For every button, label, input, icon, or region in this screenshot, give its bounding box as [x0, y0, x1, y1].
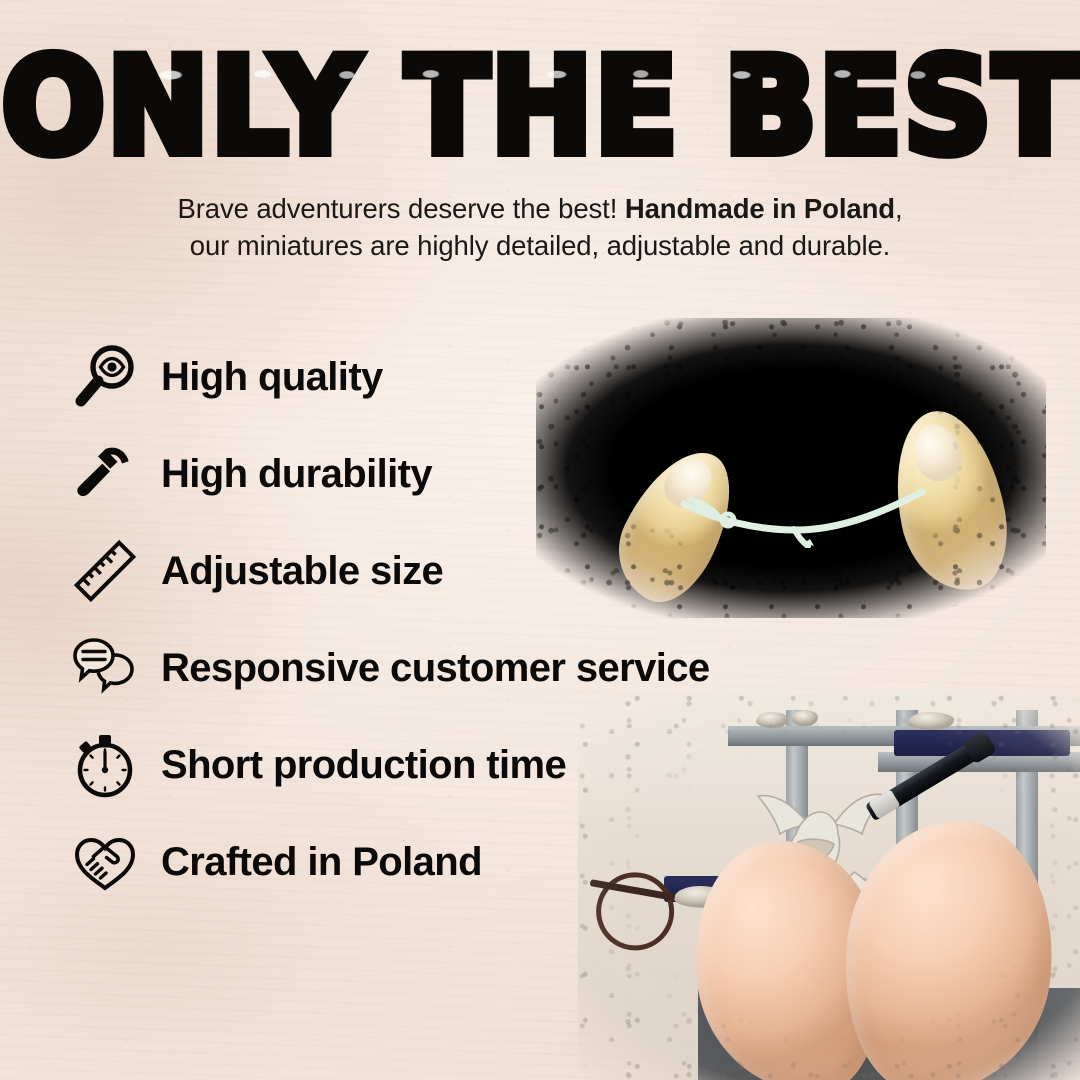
hammer-icon	[66, 435, 144, 513]
stopwatch-icon	[66, 726, 144, 804]
subtitle-emphasis: Handmade in Poland	[625, 193, 895, 224]
ruler-icon	[66, 532, 144, 610]
feature-label: Adjustable size	[161, 551, 443, 591]
subtitle-lead: Brave adventurers deserve the best!	[177, 193, 624, 224]
subtitle-comma: ,	[895, 193, 903, 224]
feature-label: Crafted in Poland	[161, 842, 482, 882]
photo-top-torn-edge	[536, 318, 1046, 618]
subtitle-line-2: our miniatures are highly detailed, adju…	[190, 230, 890, 261]
page-title: ONLY THE BEST	[0, 40, 1080, 172]
promo-poster: ONLY THE BEST Brave adventurers deserve …	[0, 0, 1080, 1080]
feature-label: High quality	[161, 357, 383, 397]
feature-label: Short production time	[161, 745, 566, 785]
subtitle: Brave adventurers deserve the best! Hand…	[90, 191, 990, 264]
handshake-heart-icon	[66, 823, 144, 901]
chat-bubbles-icon	[66, 629, 144, 707]
feature-label: High durability	[161, 454, 432, 494]
workshop-hands-photo	[578, 690, 1080, 1080]
magnifier-eye-icon	[66, 338, 144, 416]
fingers-holding-miniature-photo	[536, 318, 1046, 618]
feature-label: Responsive customer service	[161, 648, 710, 688]
photo-bottom-torn-edge	[578, 690, 1080, 1080]
